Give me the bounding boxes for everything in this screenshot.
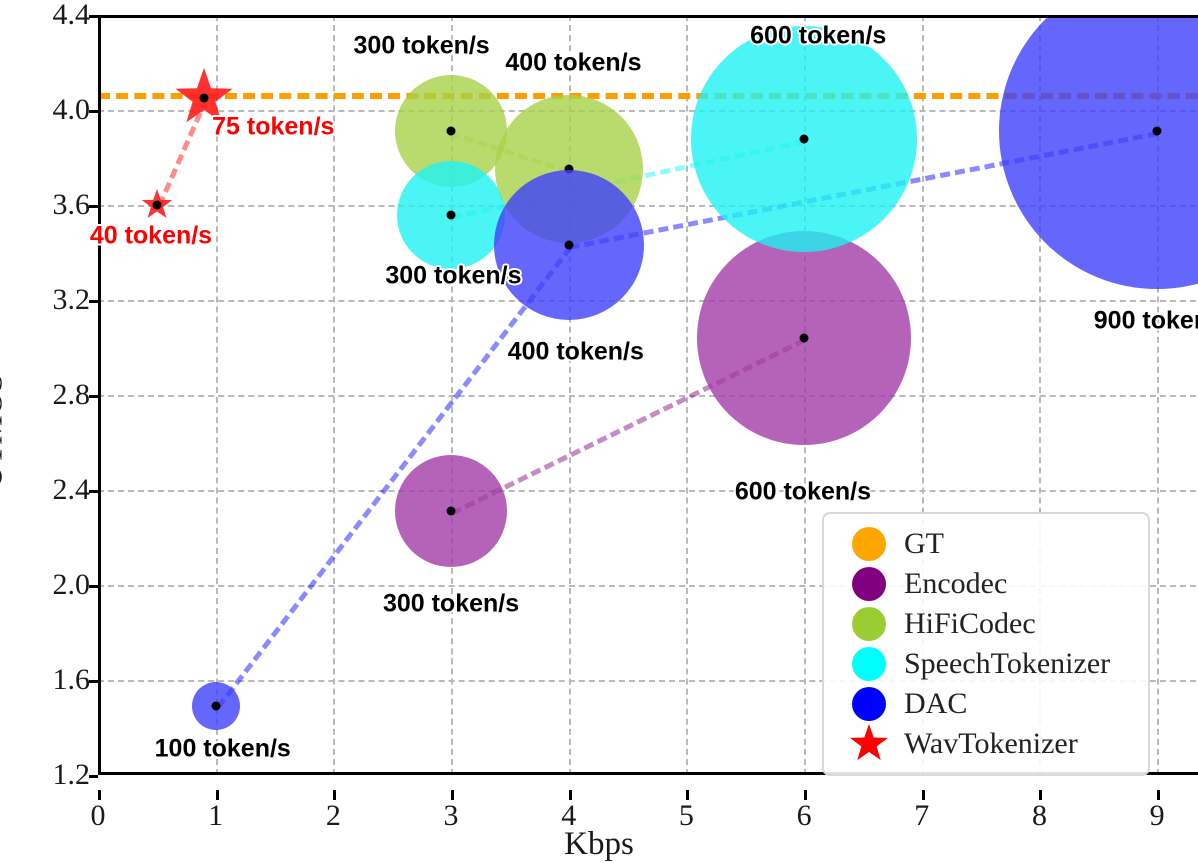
legend-dot-icon bbox=[838, 607, 900, 641]
y-tick-label: 4.0 bbox=[53, 93, 91, 127]
bubble-annotation-label: 100 token/s bbox=[155, 734, 291, 763]
bubble-annotation-label: 600 token/s bbox=[750, 22, 886, 51]
legend-item-label: DAC bbox=[900, 687, 967, 721]
legend-dot-icon bbox=[838, 687, 900, 721]
legend-item-wavtokenizer[interactable]: WavTokenizer bbox=[838, 724, 1134, 764]
chart-root: 1.21.62.02.42.83.23.64.04.40123456789 75… bbox=[0, 0, 1198, 862]
legend-dot-icon bbox=[838, 647, 900, 681]
bubble-annotation-label: 600 token/s bbox=[735, 478, 871, 507]
y-tick-label: 2.8 bbox=[53, 378, 91, 412]
bubble-annotation-label: 75 token/s bbox=[212, 112, 334, 141]
y-tick-label: 3.2 bbox=[53, 283, 91, 317]
legend-item-encodec[interactable]: Encodec bbox=[838, 564, 1134, 604]
y-tick-label: 2.0 bbox=[53, 568, 91, 602]
legend-item-label: Encodec bbox=[900, 567, 1007, 601]
y-tick-label: 1.2 bbox=[53, 758, 91, 792]
legend-dot-icon bbox=[838, 527, 900, 561]
y-axis-label: UTMOS bbox=[0, 373, 11, 489]
legend-dot-icon bbox=[838, 567, 900, 601]
bubble-annotation-label: 40 token/s bbox=[90, 221, 212, 250]
y-tick-mark bbox=[89, 680, 98, 683]
bubble-annotation-label: 300 token/s bbox=[354, 31, 490, 60]
legend-item-gt[interactable]: GT bbox=[838, 524, 1134, 564]
legend-item-speechtokenizer[interactable]: SpeechTokenizer bbox=[838, 644, 1134, 684]
legend-item-label: SpeechTokenizer bbox=[900, 647, 1110, 681]
legend-star-icon bbox=[838, 724, 900, 764]
legend-item-label: GT bbox=[900, 527, 944, 561]
bubble-annotation-label: 300 token/s bbox=[385, 262, 521, 291]
y-tick-mark bbox=[89, 300, 98, 303]
bubble-annotation-label: 900 token/s bbox=[1094, 307, 1198, 336]
legend-item-label: HiFiCodec bbox=[900, 607, 1036, 641]
legend-item-label: WavTokenizer bbox=[900, 727, 1078, 761]
y-tick-label: 2.4 bbox=[53, 473, 91, 507]
y-tick-mark bbox=[89, 585, 98, 588]
bubble-annotation-label: 400 token/s bbox=[505, 48, 641, 77]
y-tick-label: 3.6 bbox=[53, 188, 91, 222]
y-tick-label: 4.4 bbox=[53, 0, 91, 32]
x-axis-label: Kbps bbox=[0, 826, 1198, 863]
legend-item-hificodec[interactable]: HiFiCodec bbox=[838, 604, 1134, 644]
y-tick-mark bbox=[89, 15, 98, 18]
y-tick-mark bbox=[89, 775, 98, 778]
bubble-annotation-label: 400 token/s bbox=[508, 338, 644, 367]
bubble-annotation-label: 300 token/s bbox=[383, 590, 519, 619]
y-tick-mark bbox=[89, 205, 98, 208]
legend[interactable]: GTEncodecHiFiCodecSpeechTokenizerDACWavT… bbox=[822, 512, 1150, 776]
y-tick-label: 1.6 bbox=[53, 663, 91, 697]
legend-item-dac[interactable]: DAC bbox=[838, 684, 1134, 724]
y-tick-mark bbox=[89, 395, 98, 398]
y-tick-mark bbox=[89, 490, 98, 493]
y-tick-mark bbox=[89, 110, 98, 113]
